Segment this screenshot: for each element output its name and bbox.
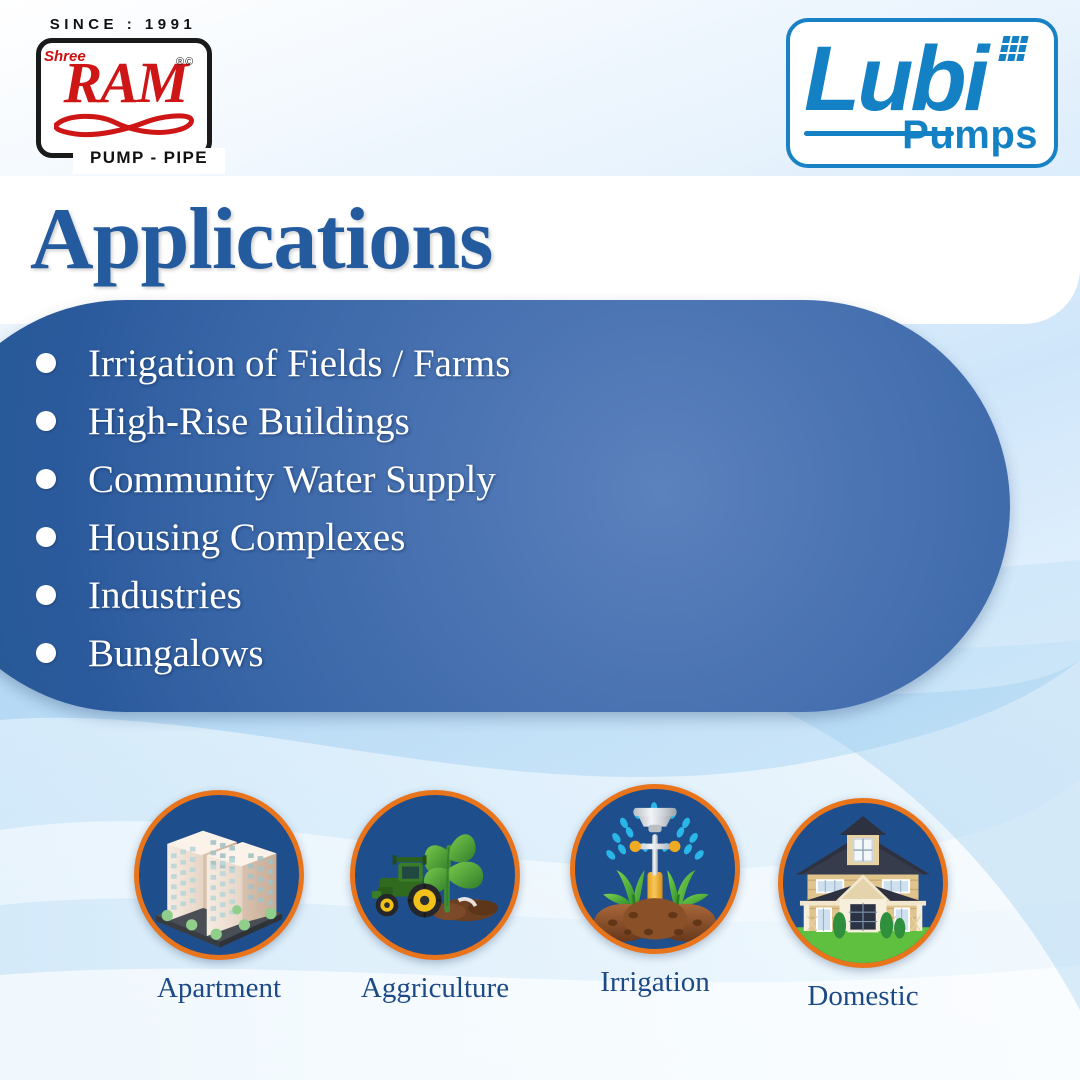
- applications-list: Irrigation of Fields / Farms High-Rise B…: [28, 334, 748, 682]
- swirl-ornament-icon: [54, 112, 196, 138]
- category-apartment[interactable]: Apartment: [124, 790, 314, 1005]
- category-label: Domestic: [768, 980, 958, 1013]
- list-item: Bungalows: [28, 624, 748, 682]
- list-item-label: Irrigation of Fields / Farms: [88, 341, 510, 386]
- sprinkler-icon: [570, 784, 740, 954]
- category-domestic[interactable]: Domestic: [768, 798, 958, 1013]
- shree-ram-logo: SINCE : 1991 Shree RAM ®© PUMP - PIPE: [18, 16, 228, 174]
- lubi-pumps-logo: Lubi Pumps: [786, 18, 1058, 168]
- pump-pipe-text: PUMP - PIPE: [90, 148, 208, 167]
- category-label: Apartment: [124, 972, 314, 1005]
- poster-canvas: SINCE : 1991 Shree RAM ®© PUMP - PIPE Lu…: [0, 0, 1080, 1080]
- category-row: Apartment: [0, 780, 1080, 1040]
- bullet-dot-icon: [36, 353, 56, 373]
- bullet-dot-icon: [36, 527, 56, 547]
- bullet-dot-icon: [36, 469, 56, 489]
- list-item-label: Bungalows: [88, 631, 264, 676]
- pump-pipe-band: PUMP - PIPE: [73, 148, 225, 174]
- pumps-text: Pumps: [902, 113, 1038, 158]
- list-item-label: Housing Complexes: [88, 515, 405, 560]
- bullet-dot-icon: [36, 643, 56, 663]
- list-item: Community Water Supply: [28, 450, 748, 508]
- category-label: Aggriculture: [340, 972, 530, 1005]
- list-item-label: Industries: [88, 573, 242, 618]
- tractor-plant-icon: [350, 790, 520, 960]
- grid-dot-icon: [996, 34, 1030, 68]
- bullet-dot-icon: [36, 411, 56, 431]
- list-item: High-Rise Buildings: [28, 392, 748, 450]
- list-item-label: Community Water Supply: [88, 457, 496, 502]
- house-icon: [778, 798, 948, 968]
- category-irrigation[interactable]: Irrigation: [560, 784, 750, 999]
- list-item-label: High-Rise Buildings: [88, 399, 410, 444]
- apartment-buildings-icon: [134, 790, 304, 960]
- list-item: Irrigation of Fields / Farms: [28, 334, 748, 392]
- list-item: Industries: [28, 566, 748, 624]
- page-title: Applications: [30, 196, 492, 284]
- since-text: SINCE : 1991: [18, 16, 228, 33]
- bullet-dot-icon: [36, 585, 56, 605]
- category-label: Irrigation: [560, 966, 750, 999]
- registered-mark: ®©: [176, 56, 194, 68]
- list-item: Housing Complexes: [28, 508, 748, 566]
- category-agriculture[interactable]: Aggriculture: [340, 790, 530, 1005]
